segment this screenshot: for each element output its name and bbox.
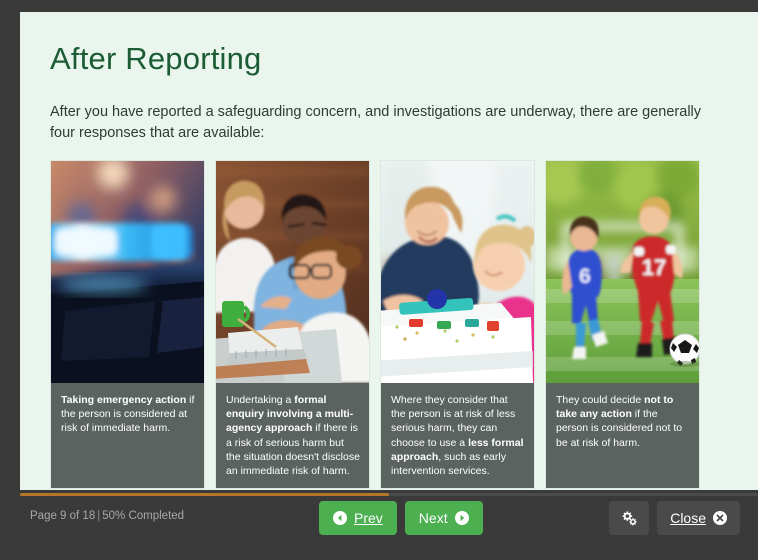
- multi-agency-meeting-photo: [216, 161, 369, 383]
- card-caption: They could decide not to take any action…: [546, 383, 699, 488]
- page-status: Page 9 of 18|50% Completed: [30, 510, 184, 522]
- times-circle-icon: [713, 511, 727, 525]
- slide-stage: After Reporting After you have reported …: [20, 12, 758, 490]
- prev-button[interactable]: Prev: [319, 501, 397, 535]
- prev-button-label: Prev: [354, 510, 383, 526]
- progress-bar-track[interactable]: [20, 493, 758, 496]
- close-button[interactable]: Close: [657, 501, 740, 535]
- response-card[interactable]: Undertaking a formal enquiry involving a…: [215, 160, 370, 489]
- response-card[interactable]: Taking emergency action if the person is…: [50, 160, 205, 489]
- close-button-label: Close: [670, 510, 706, 526]
- response-card-row: Taking emergency action if the person is…: [50, 160, 725, 489]
- card-caption: Undertaking a formal enquiry involving a…: [216, 383, 369, 488]
- card-caption: Taking emergency action if the person is…: [51, 383, 204, 488]
- page-counter-label: Page 9 of 18: [30, 510, 95, 522]
- card-caption: Where they consider that the person is a…: [381, 383, 534, 488]
- next-button[interactable]: Next: [405, 501, 483, 535]
- caption-text-lead: They could decide: [556, 394, 644, 406]
- next-button-label: Next: [419, 510, 448, 526]
- page-title: After Reporting: [50, 42, 758, 76]
- player-tools: Close: [609, 501, 740, 535]
- slide-intro-text: After you have reported a safeguarding c…: [50, 102, 710, 144]
- elearning-player: After Reporting After you have reported …: [0, 0, 758, 560]
- svg-text:17: 17: [642, 255, 666, 280]
- completion-label: 50% Completed: [102, 510, 184, 522]
- slide-content: After Reporting After you have reported …: [20, 12, 758, 489]
- arrow-circle-left-icon: [333, 511, 347, 525]
- navigation-buttons: Prev Next: [319, 501, 483, 535]
- settings-button[interactable]: [609, 501, 649, 535]
- cogs-icon: [620, 510, 638, 526]
- caption-text-lead: Undertaking a: [226, 394, 294, 406]
- children-playing-football-photo: 6: [546, 161, 699, 383]
- arrow-circle-right-icon: [455, 511, 469, 525]
- response-card[interactable]: Where they consider that the person is a…: [380, 160, 535, 489]
- response-card[interactable]: 6: [545, 160, 700, 489]
- early-intervention-play-photo: [381, 161, 534, 383]
- svg-text:6: 6: [579, 265, 591, 288]
- caption-emphasis: Taking emergency action: [61, 394, 186, 406]
- progress-bar-fill: [20, 493, 389, 496]
- police-car-emergency-lights-photo: [51, 161, 204, 383]
